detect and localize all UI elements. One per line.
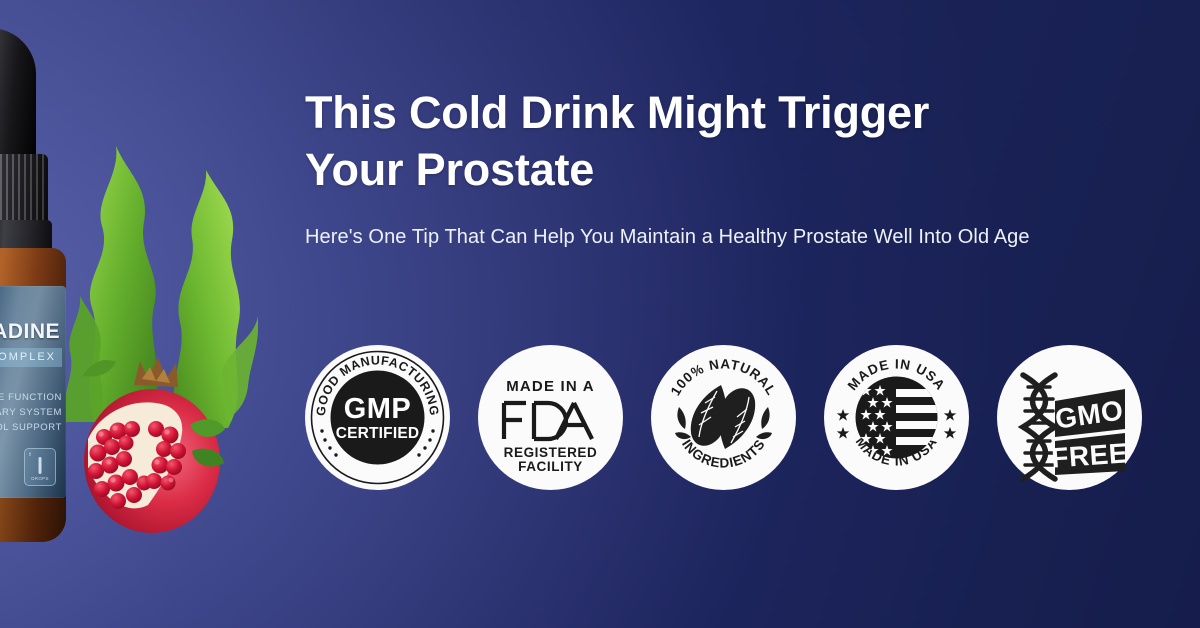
- dropper-icon-stem: [39, 457, 42, 474]
- badge-fda-line-bottom2: FACILITY: [518, 459, 583, 474]
- label-benefit-1: ROSTATE FUNCTION: [0, 390, 62, 405]
- badge-gmp-center-line1: GMP: [344, 393, 412, 425]
- badge-natural-ingredients: 100% NATURAL INGREDIENTS: [651, 345, 796, 490]
- promo-banner: TADINE TE COMPLEX ROSTATE FUNCTION RINAR…: [0, 0, 1200, 628]
- badge-made-in-usa: MADE IN USA MADE IN USA: [824, 345, 969, 490]
- dropper-icon-top-label: fl: [29, 452, 31, 457]
- trust-badge-row: GOOD MANUFACTURING PRACTICE GMP CERTIFIE…: [305, 345, 1142, 490]
- badge-fda-registered: MADE IN A REGISTERED FACILITY: [478, 345, 623, 490]
- label-subtitle: TE COMPLEX: [0, 348, 62, 367]
- supplement-bottle: TADINE TE COMPLEX ROSTATE FUNCTION RINAR…: [0, 28, 102, 538]
- bottle-label: TADINE TE COMPLEX ROSTATE FUNCTION RINAR…: [0, 286, 66, 498]
- badge-gmo-line2: FREE: [1050, 437, 1129, 473]
- dropper-icon: fl DROPS: [24, 448, 56, 486]
- badge-fda-line-bottom1: REGISTERED: [504, 445, 598, 460]
- headline: This Cold Drink Might Trigger Your Prost…: [305, 84, 1005, 198]
- badge-fda-line-top: MADE IN A: [506, 378, 595, 395]
- label-benefit-list: ROSTATE FUNCTION RINARY SYSTEM ONTROL SU…: [0, 390, 62, 435]
- badge-gmp-certified: GOOD MANUFACTURING PRACTICE GMP CERTIFIE…: [305, 345, 450, 490]
- product-image: TADINE TE COMPLEX ROSTATE FUNCTION RINAR…: [0, 0, 260, 628]
- bottle-base: [0, 496, 66, 542]
- cap-grip: [0, 154, 48, 226]
- label-benefit-2: RINARY SYSTEM: [0, 405, 62, 420]
- banner-text-block: This Cold Drink Might Trigger Your Prost…: [305, 84, 1145, 255]
- subheadline: Here's One Tip That Can Help You Maintai…: [305, 220, 1120, 255]
- label-brand-name: TADINE: [0, 320, 60, 344]
- label-benefit-3: ONTROL SUPPORT: [0, 420, 62, 435]
- badge-gmp-center-line2: CERTIFIED: [336, 425, 420, 442]
- badge-gmo-free: GMO FREE: [997, 345, 1142, 490]
- dropper-icon-caption: DROPS: [31, 476, 49, 481]
